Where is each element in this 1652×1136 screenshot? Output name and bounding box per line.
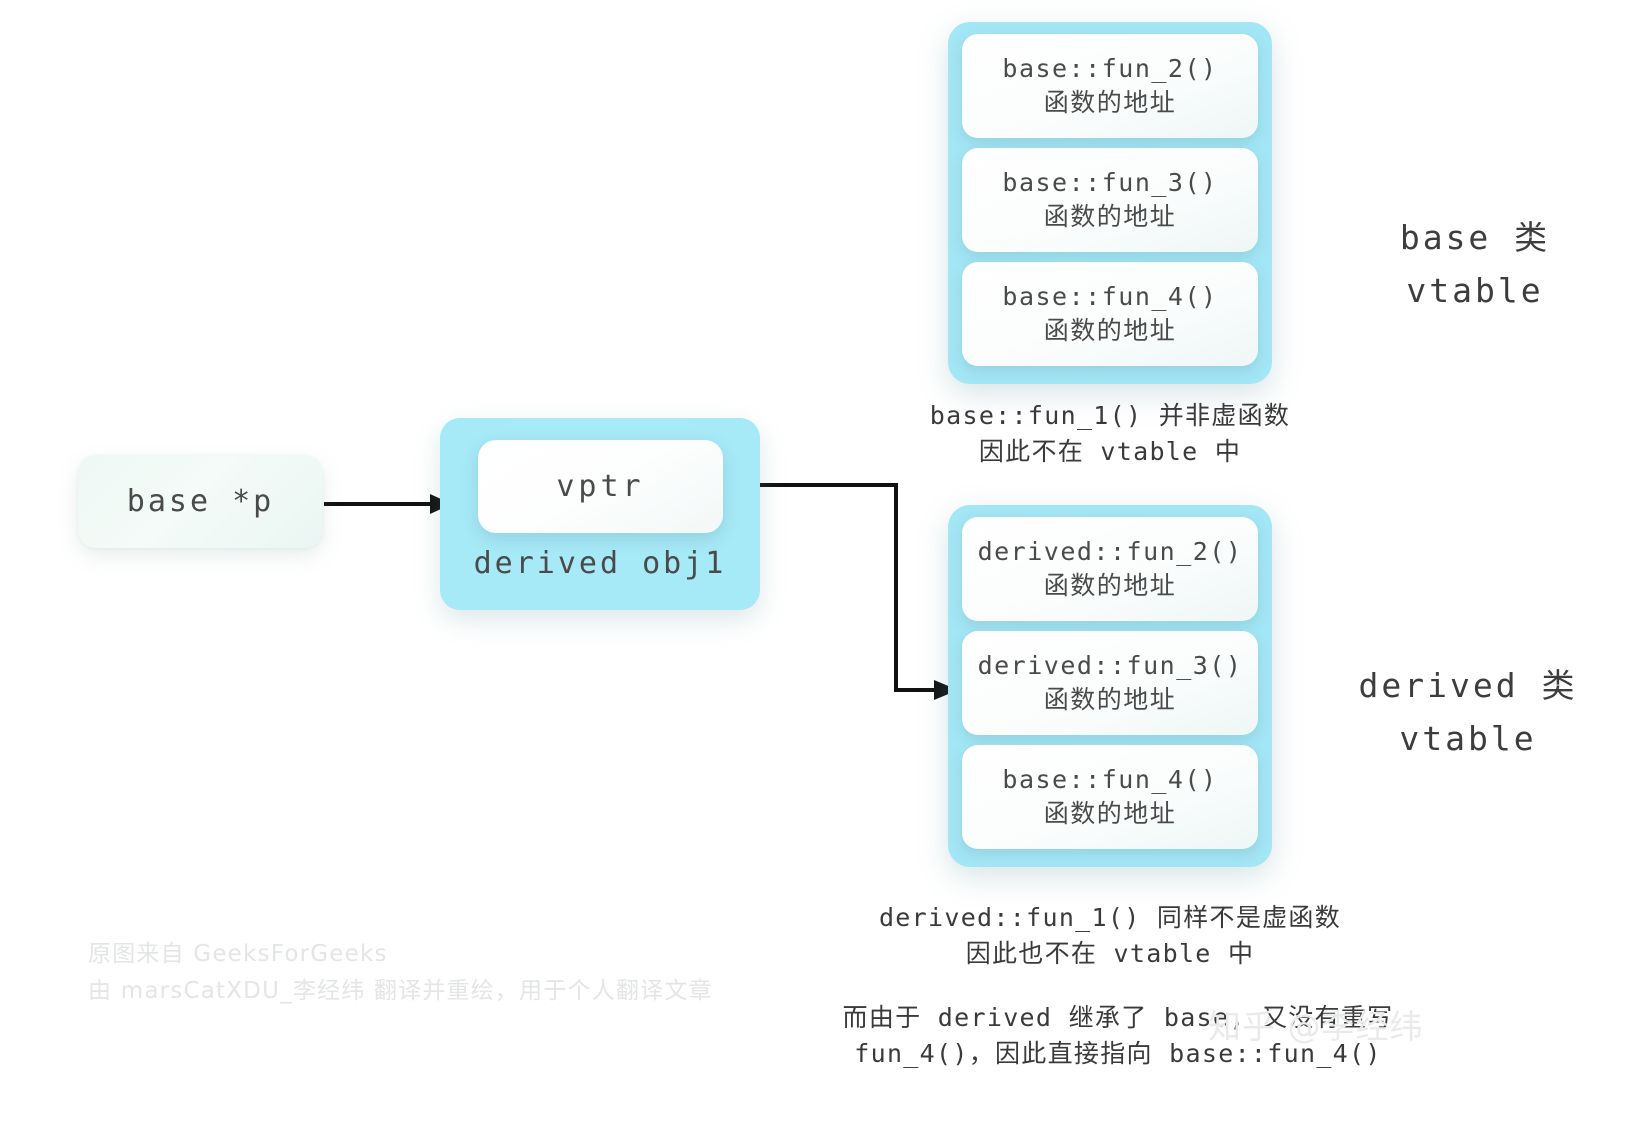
vtable-entry-desc: 函数的地址 bbox=[1044, 314, 1177, 348]
vtable-base-note: base::fun_1() 并非虚函数 因此不在 vtable 中 bbox=[870, 398, 1350, 471]
vptr-label: vptr bbox=[556, 469, 644, 504]
arrow-pointer-to-object bbox=[324, 494, 452, 514]
vtable-entry-func: derived::fun_3() bbox=[978, 649, 1243, 683]
vtable-entry: base::fun_4() 函数的地址 bbox=[962, 262, 1258, 366]
vtable-entry-desc: 函数的地址 bbox=[1044, 200, 1177, 234]
vtable-base-side-label-line2: vtable bbox=[1330, 265, 1620, 318]
vtable-base-note-line1: base::fun_1() 并非虚函数 bbox=[870, 398, 1350, 434]
vtable-derived-side-label-line2: vtable bbox=[1308, 713, 1628, 766]
watermark: 知乎 @李经纬 bbox=[1208, 1000, 1424, 1048]
vtable-base-side-label-line1: base 类 bbox=[1330, 212, 1620, 265]
vtable-entry-func: derived::fun_2() bbox=[978, 535, 1243, 569]
credits-line2: 由 marsCatXDU_李经纬 翻译并重绘，用于个人翻译文章 bbox=[88, 973, 713, 1010]
diagram-canvas: base *p vptr derived obj1 base::fun_2() … bbox=[0, 0, 1652, 1136]
credits-line1: 原图来自 GeeksForGeeks bbox=[88, 936, 713, 973]
vtable-derived-note-line2: 因此也不在 vtable 中 bbox=[860, 936, 1360, 972]
vtable-entry-desc: 函数的地址 bbox=[1044, 86, 1177, 120]
vtable-entry-desc: 函数的地址 bbox=[1044, 797, 1177, 831]
vtable-base-note-line2: 因此不在 vtable 中 bbox=[870, 434, 1350, 470]
vtable-entry-func: base::fun_4() bbox=[1002, 280, 1217, 314]
vtable-entry-desc: 函数的地址 bbox=[1044, 569, 1177, 603]
vtable-derived: derived::fun_2() 函数的地址 derived::fun_3() … bbox=[948, 505, 1272, 867]
vtable-entry: base::fun_2() 函数的地址 bbox=[962, 34, 1258, 138]
vtable-derived-side-label-line1: derived 类 bbox=[1308, 660, 1628, 713]
vtable-base-side-label: base 类 vtable bbox=[1330, 212, 1620, 318]
vtable-entry: derived::fun_2() 函数的地址 bbox=[962, 517, 1258, 621]
vtable-base: base::fun_2() 函数的地址 base::fun_3() 函数的地址 … bbox=[948, 22, 1272, 384]
pointer-box-label: base *p bbox=[127, 484, 274, 519]
vtable-entry-func: base::fun_3() bbox=[1002, 166, 1217, 200]
vtable-entry-func: base::fun_2() bbox=[1002, 52, 1217, 86]
vtable-entry: derived::fun_3() 函数的地址 bbox=[962, 631, 1258, 735]
object-container-derived-obj1: vptr derived obj1 bbox=[440, 418, 760, 610]
object-label: derived obj1 bbox=[440, 546, 760, 581]
vtable-derived-side-label: derived 类 vtable bbox=[1308, 660, 1628, 766]
pointer-box: base *p bbox=[78, 455, 323, 548]
vtable-derived-note-line1: derived::fun_1() 同样不是虚函数 bbox=[860, 900, 1360, 936]
vtable-entry: base::fun_4() 函数的地址 bbox=[962, 745, 1258, 849]
vtable-entry-desc: 函数的地址 bbox=[1044, 683, 1177, 717]
vptr-slot: vptr bbox=[478, 440, 723, 533]
credits: 原图来自 GeeksForGeeks 由 marsCatXDU_李经纬 翻译并重… bbox=[88, 936, 713, 1010]
vtable-entry-func: base::fun_4() bbox=[1002, 763, 1217, 797]
vtable-derived-note: derived::fun_1() 同样不是虚函数 因此也不在 vtable 中 bbox=[860, 900, 1360, 973]
vtable-entry: base::fun_3() 函数的地址 bbox=[962, 148, 1258, 252]
